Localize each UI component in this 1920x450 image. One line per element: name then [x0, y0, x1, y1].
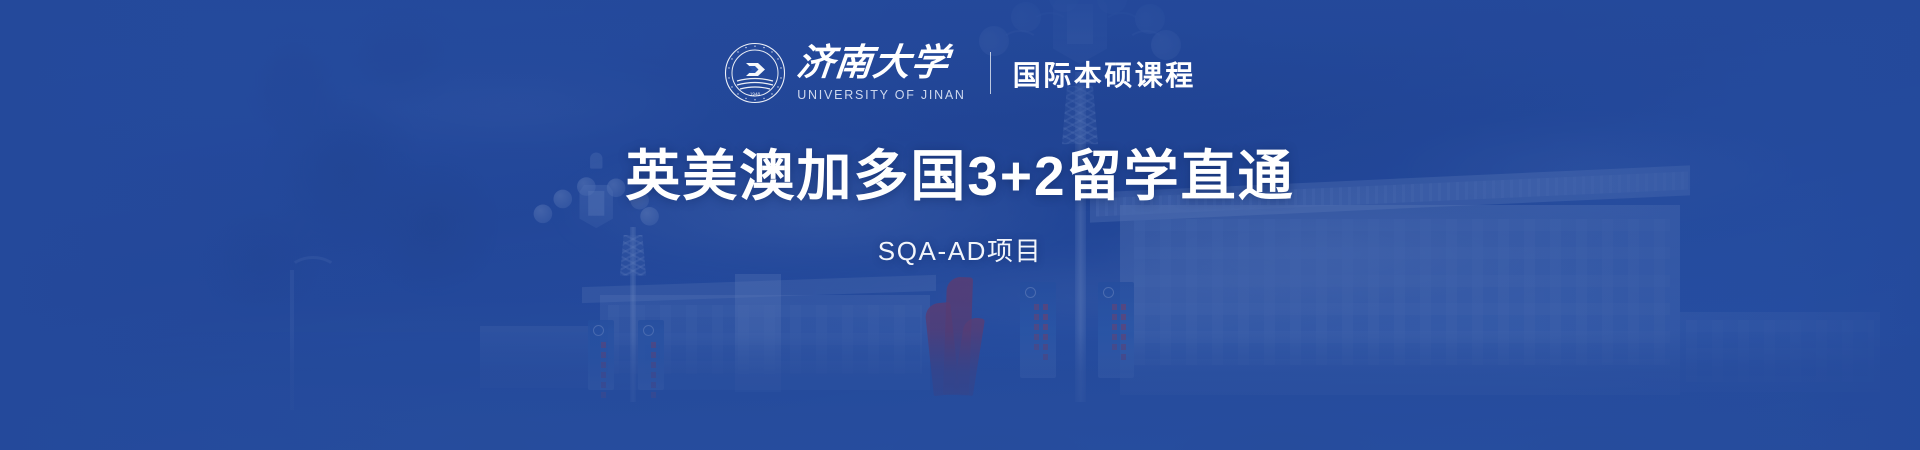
- wordmark: 济南大学 UNIVERSITY OF JINAN: [797, 42, 965, 104]
- svg-text:1948: 1948: [750, 92, 761, 97]
- hero-headline: 英美澳加多国3+2留学直通: [625, 146, 1294, 207]
- logo-lockup: 1948 济南大学 UNIVERSITY OF JINAN 国际本硕课程: [724, 40, 1195, 106]
- university-seal-icon: 1948: [724, 42, 786, 104]
- university-chinese-name: 济南大学: [795, 45, 967, 82]
- banner-content: 1948 济南大学 UNIVERSITY OF JINAN 国际本硕课程 英美澳…: [0, 0, 1920, 450]
- university-english-name: UNIVERSITY OF JINAN: [797, 89, 965, 102]
- hero-subtitle: SQA-AD项目: [878, 231, 1042, 268]
- vertical-divider: [990, 52, 991, 94]
- hero-banner: 1948 济南大学 UNIVERSITY OF JINAN 国际本硕课程 英美澳…: [0, 0, 1920, 450]
- program-name: 国际本硕课程: [1013, 54, 1196, 94]
